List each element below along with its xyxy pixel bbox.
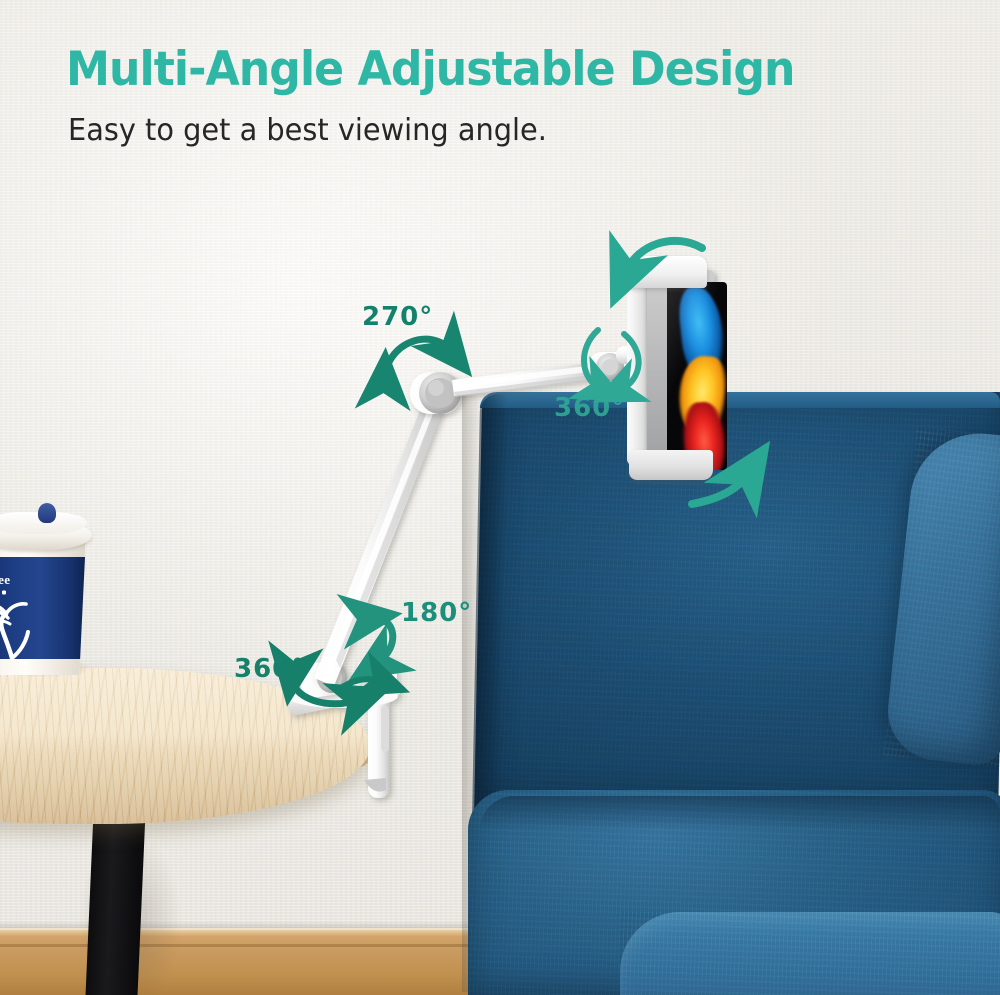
smartphone-in-holder — [631, 262, 723, 477]
label-rotation-270: 270° — [362, 302, 433, 332]
screen-glare — [667, 282, 727, 470]
coffee-cup: coffee — [0, 500, 94, 675]
holder-bottom-grip — [629, 450, 713, 480]
coffee-cup-lid-tab — [38, 503, 56, 523]
coffee-cup-brand-text: coffee — [0, 572, 56, 588]
deer-antler-icon — [0, 596, 52, 662]
sofa-front-cushion — [620, 912, 1000, 995]
holder-top-grip — [629, 256, 707, 288]
sofa-seat-crease — [480, 796, 1000, 830]
label-rotation-180: 180° — [401, 598, 472, 628]
holder-back-spine — [627, 268, 649, 466]
page-subtitle: Easy to get a best viewing angle. — [68, 113, 547, 148]
product-marketing-image: coffee — [0, 0, 1000, 995]
page-title: Multi-Angle Adjustable Design — [66, 42, 795, 97]
label-rotation-360-base: 360° — [234, 654, 305, 684]
phone-frame — [647, 270, 715, 466]
coffee-cup-dot-row — [0, 590, 20, 595]
phone-screen — [667, 282, 727, 470]
label-rotation-360-head: 360° — [554, 393, 625, 423]
blue-velvet-sofa — [470, 392, 1000, 995]
